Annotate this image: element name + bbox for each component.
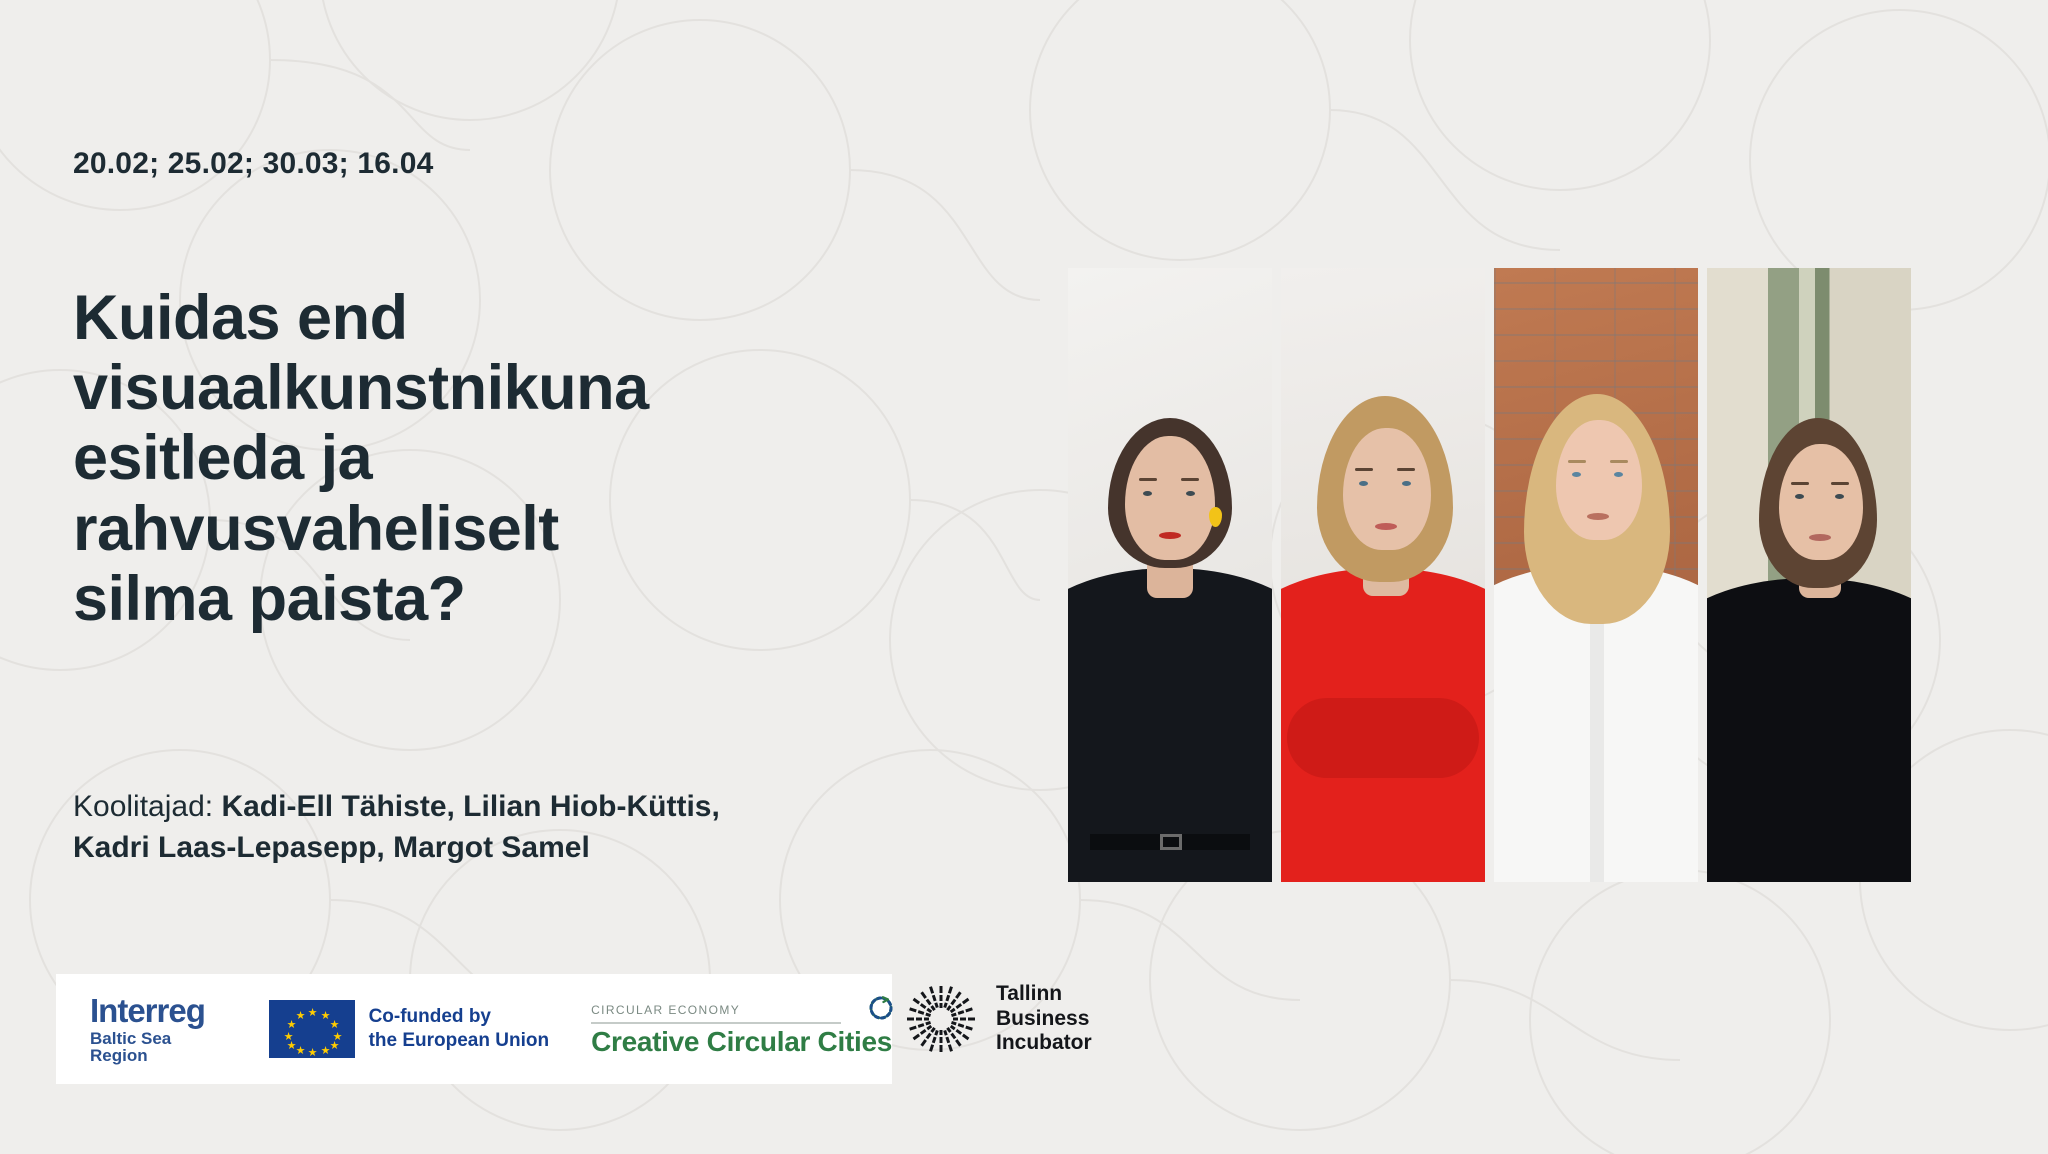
european-union-logo: ★ ★ ★ ★ ★ ★ ★ ★ ★ ★ ★ ★ Co-funded by the… <box>269 1000 550 1058</box>
interreg-wordmark: Interreg <box>90 994 233 1027</box>
headline-line-3: esitleda ja <box>73 423 893 493</box>
tbi-line-2: Business <box>996 1007 1092 1032</box>
tallinn-business-incubator-logo: Tallinn Business Incubator <box>902 980 1092 1058</box>
portrait-2-arms <box>1287 698 1479 778</box>
interreg-subtitle: Baltic Sea Region <box>90 1030 233 1064</box>
portrait-3 <box>1494 268 1698 882</box>
portrait-2-face <box>1343 428 1431 550</box>
interreg-logo: Interreg Baltic Sea Region <box>90 994 233 1064</box>
headline-line-2: visuaalkunstnikuna <box>73 353 893 423</box>
portrait-4-clothing <box>1707 578 1911 882</box>
portrait-strip <box>1068 268 1911 882</box>
portrait-1-belt-buckle <box>1160 834 1182 850</box>
trainers-names-line-2: Kadri Laas-Lepasepp, Margot Samel <box>73 831 590 864</box>
ccc-eyebrow: CIRCULAR ECONOMY <box>591 1003 892 1017</box>
eu-funding-text: Co-funded by the European Union <box>369 1005 550 1053</box>
tbi-line-3: Incubator <box>996 1031 1092 1056</box>
tbi-wordmark: Tallinn Business Incubator <box>996 982 1092 1056</box>
eu-funding-line-1: Co-funded by <box>369 1005 550 1029</box>
eu-flag-icon: ★ ★ ★ ★ ★ ★ ★ ★ ★ ★ ★ ★ <box>269 1000 355 1058</box>
circular-arrow-icon <box>866 993 896 1023</box>
headline-line-4: rahvusvaheliselt <box>73 494 893 564</box>
portrait-4 <box>1707 268 1911 882</box>
spiral-dashes-icon <box>902 980 980 1058</box>
portrait-2 <box>1281 268 1485 882</box>
ccc-title: Creative Circular Cities <box>591 1028 892 1056</box>
tbi-line-1: Tallinn <box>996 982 1092 1007</box>
portrait-3-face <box>1556 420 1642 540</box>
trainers-label: Koolitajad: <box>73 790 213 823</box>
ccc-divider <box>591 1022 841 1024</box>
sponsor-logo-bar: Interreg Baltic Sea Region ★ ★ ★ ★ ★ ★ ★… <box>56 974 892 1084</box>
page-title: Kuidas end visuaalkunstnikuna esitleda j… <box>73 283 893 634</box>
eu-funding-line-2: the European Union <box>369 1029 550 1053</box>
event-dates: 20.02; 25.02; 30.03; 16.04 <box>73 147 433 181</box>
trainers-block: Koolitajad: Kadi-Ell Tähiste, Lilian Hio… <box>73 787 953 868</box>
creative-circular-cities-logo: CIRCULAR ECONOMY Creative Circular Citie… <box>591 1003 892 1056</box>
headline-line-1: Kuidas end <box>73 283 893 353</box>
trainers-names-line-1: Kadi-Ell Tähiste, Lilian Hiob-Küttis, <box>221 790 719 823</box>
headline-line-5: silma paista? <box>73 564 893 634</box>
portrait-4-face <box>1779 444 1863 560</box>
portrait-1-face <box>1125 436 1215 560</box>
portrait-1 <box>1068 268 1272 882</box>
